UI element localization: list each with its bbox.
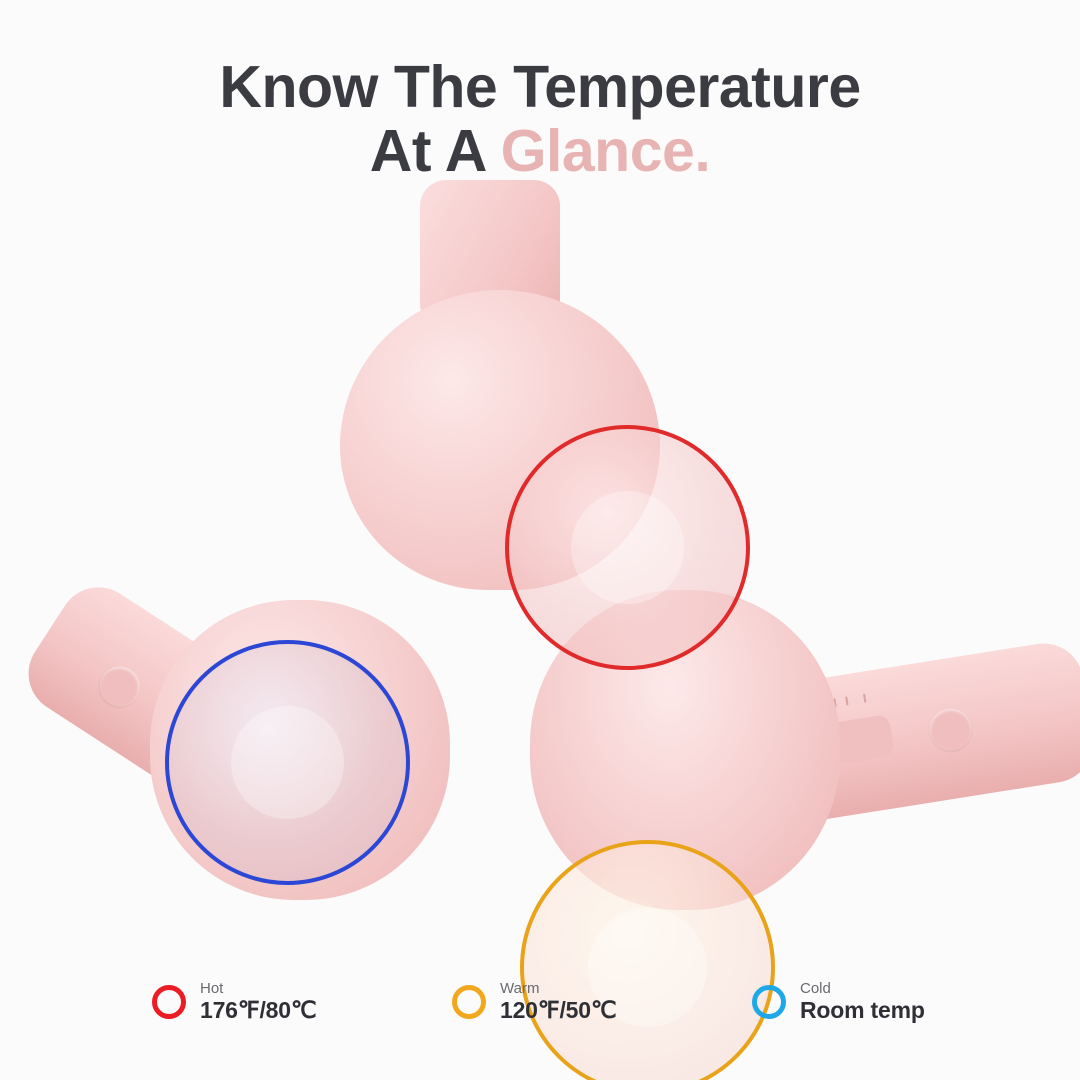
legend-label-warm: Warm [500,980,616,997]
legend-text-warm: Warm 120℉/50℃ [500,980,616,1024]
legend-ring-cold-icon [752,985,786,1019]
nozzle-hub-cold [231,706,345,820]
legend-item-warm: Warm 120℉/50℃ [452,980,616,1024]
legend-value-cold: Room temp [800,997,925,1023]
dryer-switch-tick-right-2 [845,696,848,705]
legend-text-hot: Hot 176℉/80℃ [200,980,316,1024]
legend-item-cold: Cold Room temp [752,980,925,1024]
legend-value-warm: 120℉/50℃ [500,997,616,1023]
legend-ring-hot-icon [152,985,186,1019]
legend-value-hot: 176℉/80℃ [200,997,316,1023]
legend-text-cold: Cold Room temp [800,980,925,1024]
legend-label-cold: Cold [800,980,925,997]
nozzle-ring-hot [505,425,750,670]
legend-item-hot: Hot 176℉/80℃ [152,980,316,1024]
title-line-1: Know The Temperature [219,54,860,120]
legend-label-hot: Hot [200,980,316,997]
dryer-switch-tick-right-3 [863,694,866,703]
product-photo [0,150,1080,950]
dryer-power-button-right [927,706,975,754]
nozzle-ring-cold [165,640,410,885]
dryer-cool-button-left [92,659,147,714]
product-feature-image: Know The Temperature At A Glance. [0,0,1080,1080]
nozzle-hub-hot [571,491,685,605]
temperature-legend: Hot 176℉/80℃ Warm 120℉/50℃ Cold Room tem… [0,966,1080,1046]
legend-ring-warm-icon [452,985,486,1019]
